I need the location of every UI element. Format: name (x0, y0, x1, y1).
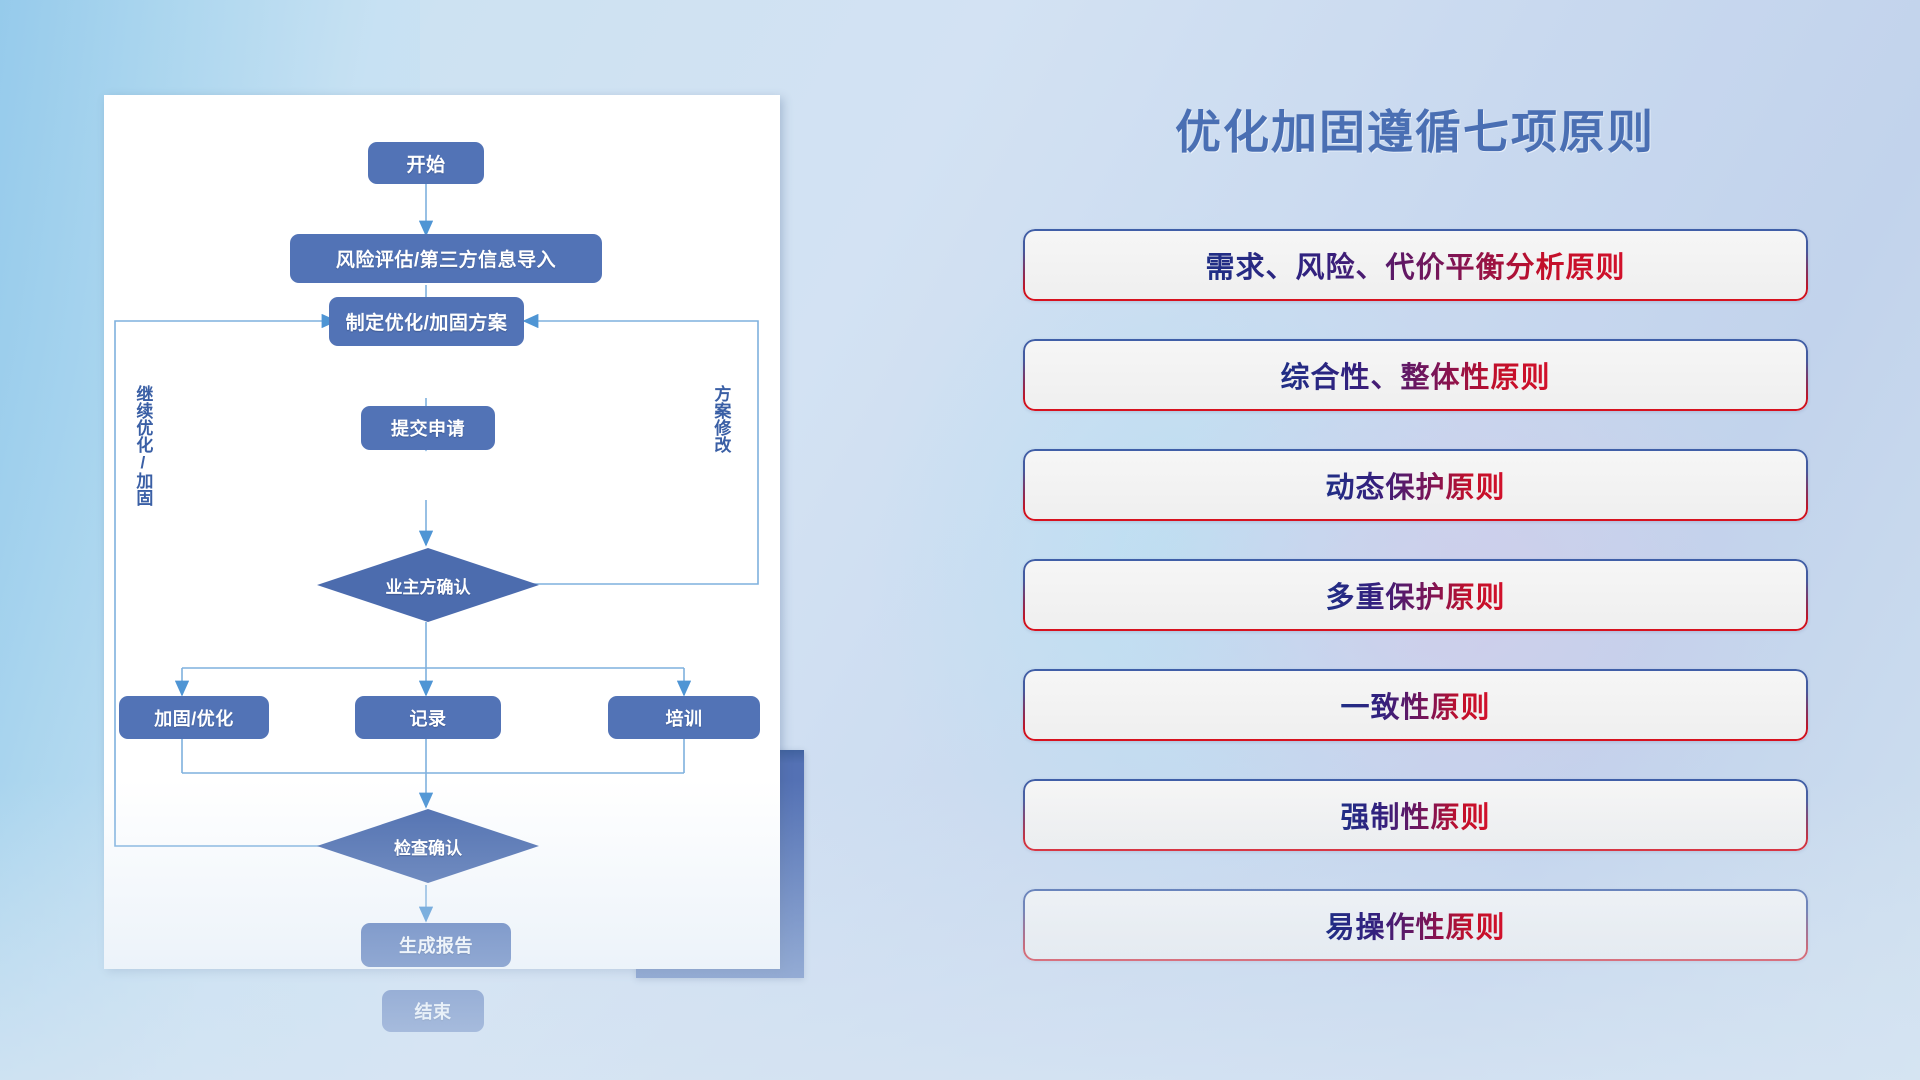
node-generate-report-label: 生成报告 (399, 932, 473, 958)
edge-label-left-loop: 继续优化/加固 (134, 385, 151, 506)
slide-root: 开始 风险评估/第三方信息导入 制定优化/加固方案 提交申请 业主方确认 加固/… (0, 0, 1920, 1080)
decision-owner-confirm[interactable]: 业主方确认 (317, 548, 539, 622)
node-plan-label: 制定优化/加固方案 (346, 308, 508, 335)
flowchart-diagram: 开始 风险评估/第三方信息导入 制定优化/加固方案 提交申请 业主方确认 加固/… (104, 95, 780, 969)
node-training-label: 培训 (666, 705, 703, 731)
edge-label-right-loop: 方案修改 (712, 385, 729, 453)
node-record[interactable]: 记录 (355, 696, 501, 739)
node-record-label: 记录 (410, 705, 447, 731)
decision-check-confirm-label: 检查确认 (394, 834, 462, 859)
principle-item-7[interactable]: 易操作性原则 (1023, 889, 1808, 961)
node-risk-assessment-label: 风险评估/第三方信息导入 (336, 245, 556, 272)
node-end[interactable]: 结束 (382, 990, 484, 1032)
node-reinforce[interactable]: 加固/优化 (119, 696, 269, 739)
principle-item-4[interactable]: 多重保护原则 (1023, 559, 1808, 631)
principle-item-5-label: 一致性原则 (1340, 684, 1490, 726)
principle-item-1-label: 需求、风险、代价平衡分析原则 (1205, 244, 1625, 286)
principle-item-7-label: 易操作性原则 (1325, 904, 1505, 946)
node-end-label: 结束 (415, 998, 452, 1024)
node-start[interactable]: 开始 (368, 142, 484, 184)
principle-item-6[interactable]: 强制性原则 (1023, 779, 1808, 851)
node-submit-application-label: 提交申请 (391, 415, 465, 441)
flowchart-card: 开始 风险评估/第三方信息导入 制定优化/加固方案 提交申请 业主方确认 加固/… (104, 95, 780, 969)
node-start-label: 开始 (406, 150, 445, 177)
principle-item-6-label: 强制性原则 (1340, 794, 1490, 836)
principle-item-3-label: 动态保护原则 (1325, 464, 1505, 506)
node-risk-assessment[interactable]: 风险评估/第三方信息导入 (290, 234, 602, 283)
node-submit-application[interactable]: 提交申请 (361, 406, 495, 450)
principle-item-1[interactable]: 需求、风险、代价平衡分析原则 (1023, 229, 1808, 301)
principle-item-5[interactable]: 一致性原则 (1023, 669, 1808, 741)
principle-item-2[interactable]: 综合性、整体性原则 (1023, 339, 1808, 411)
node-training[interactable]: 培训 (608, 696, 760, 739)
principles-panel: 优化加固遵循七项原则 需求、风险、代价平衡分析原则 综合性、整体性原则 动态保护… (1010, 96, 1820, 1016)
principles-list: 需求、风险、代价平衡分析原则 综合性、整体性原则 动态保护原则 多重保护原则 一… (1023, 229, 1808, 999)
node-generate-report[interactable]: 生成报告 (361, 923, 511, 967)
panel-title: 优化加固遵循七项原则 (1010, 96, 1820, 162)
node-plan[interactable]: 制定优化/加固方案 (329, 297, 524, 346)
principle-item-2-label: 综合性、整体性原则 (1280, 354, 1550, 396)
node-reinforce-label: 加固/优化 (154, 705, 234, 731)
principle-item-3[interactable]: 动态保护原则 (1023, 449, 1808, 521)
principle-item-4-label: 多重保护原则 (1325, 574, 1505, 616)
decision-check-confirm[interactable]: 检查确认 (317, 809, 539, 883)
decision-owner-confirm-label: 业主方确认 (386, 573, 471, 598)
